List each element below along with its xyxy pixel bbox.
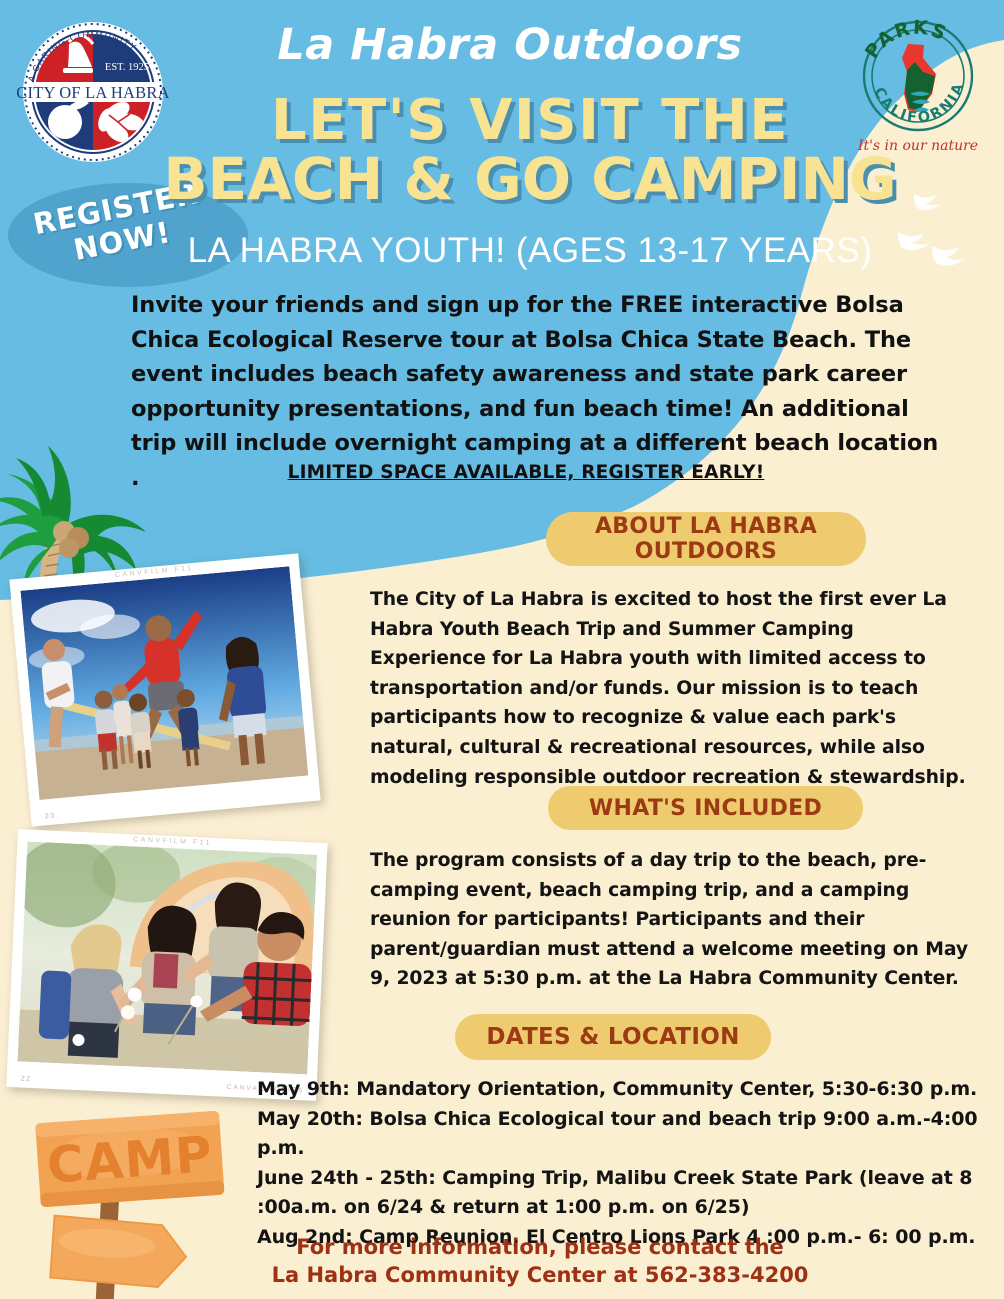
dates-list: May 9th: Mandatory Orientation, Communit… [257, 1075, 997, 1252]
photo2-film-number: 22 [21, 1075, 32, 1082]
limited-space-notice: LIMITED SPACE AVAILABLE, REGISTER EARLY! [131, 462, 921, 483]
headline: LET'S VISIT THE BEACH & GO CAMPING [120, 92, 940, 208]
list-item: May 9th: Mandatory Orientation, Communit… [257, 1075, 997, 1105]
headline-line2: BEACH & GO CAMPING [120, 150, 940, 208]
photo1-image [20, 566, 308, 800]
section-heading-about: ABOUT LA HABRA OUTDOORS [546, 512, 866, 566]
headline-line1: LET'S VISIT THE [271, 88, 789, 153]
section-heading-whats-included: WHAT'S INCLUDED [548, 786, 863, 830]
list-item: May 20th: Bolsa Chica Ecological tour an… [257, 1105, 997, 1164]
list-item: June 24th - 25th: Camping Trip, Malibu C… [257, 1164, 997, 1223]
photo-card-beach: CANVFILM F11 23 [9, 553, 320, 826]
about-body-text: The City of La Habra is excited to host … [370, 585, 970, 792]
photo-card-camping: CANVFILM F11 22 CANVA STORIES [6, 829, 327, 1101]
whats-included-body-text: The program consists of a day trip to th… [370, 846, 970, 994]
section-heading-dates-location: DATES & LOCATION [455, 1014, 771, 1060]
contact-info: For more information, please contact the… [200, 1233, 880, 1289]
page-title: La Habra Outdoors [200, 22, 820, 68]
photo2-image [17, 842, 317, 1075]
contact-line2[interactable]: La Habra Community Center at 562-383-420… [200, 1261, 880, 1289]
city-logo-established: EST. 1925 [105, 62, 149, 73]
camp-sign-text: CAMP [45, 1125, 214, 1194]
audience-subtitle: LA HABRA YOUTH! (AGES 13-17 YEARS) [160, 232, 900, 270]
contact-line1: For more information, please contact the [200, 1233, 880, 1261]
photo1-film-number: 23 [45, 812, 56, 820]
flyer-page: REGISTER NOW! [0, 0, 1004, 1299]
